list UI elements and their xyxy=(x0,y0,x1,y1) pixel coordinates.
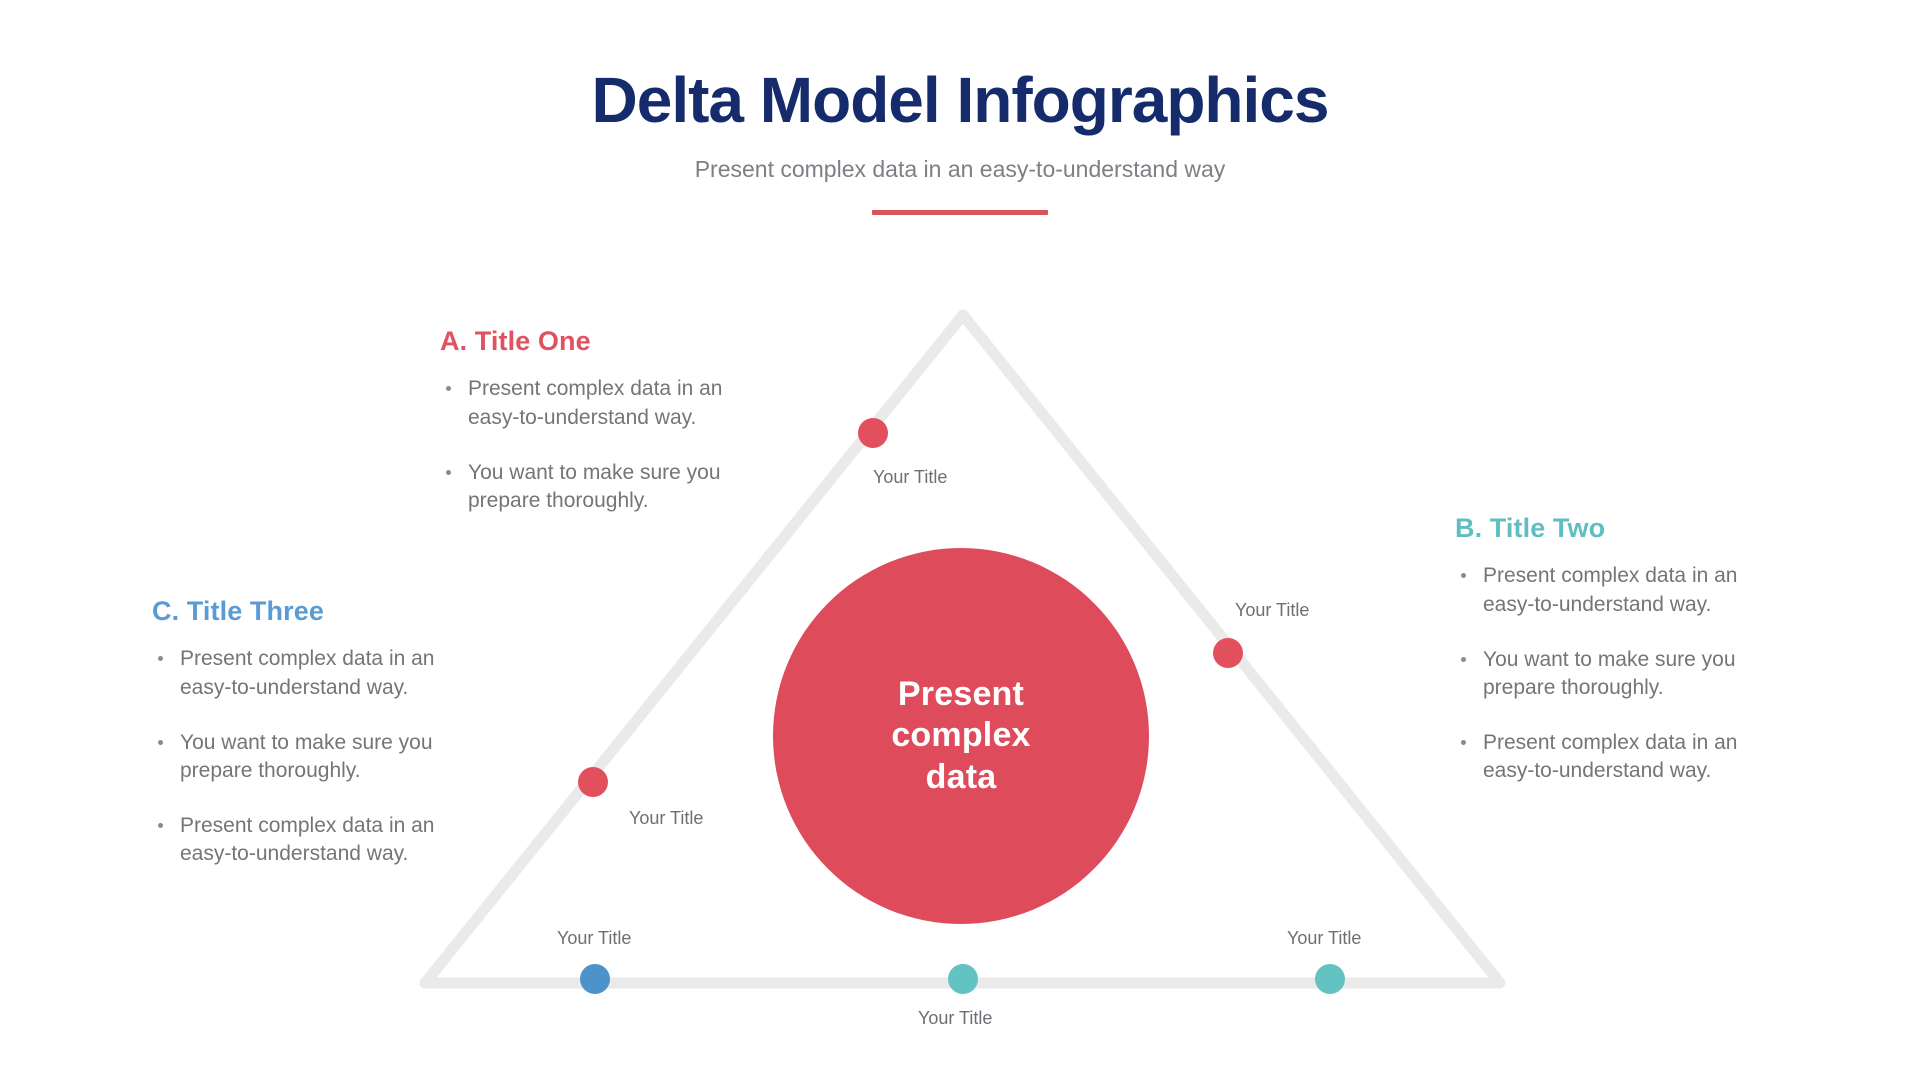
center-circle-label: Present complex data xyxy=(861,674,1061,798)
section-b-bullet-3: Present complex data in an easy-to-under… xyxy=(1455,729,1775,785)
node-dot-top-left-edge[interactable] xyxy=(858,418,888,448)
center-circle[interactable]: Present complex data xyxy=(773,548,1149,924)
bullet-text: You want to make sure you prepare thorou… xyxy=(468,461,721,512)
bullet-text: You want to make sure you prepare thorou… xyxy=(180,731,433,782)
bullet-dot-icon xyxy=(158,823,163,828)
node-dot-bottom-left[interactable] xyxy=(580,964,610,994)
section-a: A. Title One Present complex data in an … xyxy=(440,325,760,515)
bullet-text: You want to make sure you prepare thorou… xyxy=(1483,648,1736,699)
node-label-bottom-center: Your Title xyxy=(918,1008,992,1030)
bullet-dot-icon xyxy=(1461,573,1466,578)
section-c: C. Title Three Present complex data in a… xyxy=(152,595,472,868)
page-title: Delta Model Infographics xyxy=(0,68,1920,132)
node-label-bottom-left: Your Title xyxy=(557,928,631,950)
section-a-bullet-2: You want to make sure you prepare thorou… xyxy=(440,459,760,515)
node-label-top-left-edge: Your Title xyxy=(873,467,947,489)
node-dot-left-edge[interactable] xyxy=(578,767,608,797)
node-label-right-edge: Your Title xyxy=(1235,600,1309,622)
section-b-heading: B. Title Two xyxy=(1455,512,1775,544)
section-b-bullet-1: Present complex data in an easy-to-under… xyxy=(1455,562,1775,618)
section-c-heading: C. Title Three xyxy=(152,595,472,627)
section-c-bullet-1: Present complex data in an easy-to-under… xyxy=(152,645,472,701)
node-label-bottom-right: Your Title xyxy=(1287,928,1361,950)
bullet-dot-icon xyxy=(1461,657,1466,662)
section-a-bullets: Present complex data in an easy-to-under… xyxy=(440,375,760,515)
slide-canvas: Delta Model Infographics Present complex… xyxy=(0,0,1920,1080)
bullet-text: Present complex data in an easy-to-under… xyxy=(180,647,434,698)
bullet-dot-icon xyxy=(158,656,163,661)
bullet-text: Present complex data in an easy-to-under… xyxy=(1483,564,1737,615)
section-c-bullets: Present complex data in an easy-to-under… xyxy=(152,645,472,868)
section-a-heading: A. Title One xyxy=(440,325,760,357)
section-c-bullet-2: You want to make sure you prepare thorou… xyxy=(152,729,472,785)
section-b-bullets: Present complex data in an easy-to-under… xyxy=(1455,562,1775,785)
header: Delta Model Infographics Present complex… xyxy=(0,68,1920,215)
section-b-bullet-2: You want to make sure you prepare thorou… xyxy=(1455,646,1775,702)
bullet-text: Present complex data in an easy-to-under… xyxy=(180,814,434,865)
node-dot-right-edge[interactable] xyxy=(1213,638,1243,668)
section-c-bullet-3: Present complex data in an easy-to-under… xyxy=(152,812,472,868)
bullet-dot-icon xyxy=(1461,740,1466,745)
bullet-dot-icon xyxy=(446,470,451,475)
bullet-text: Present complex data in an easy-to-under… xyxy=(468,377,722,428)
node-dot-bottom-center[interactable] xyxy=(948,964,978,994)
title-divider xyxy=(872,210,1048,215)
section-a-bullet-1: Present complex data in an easy-to-under… xyxy=(440,375,760,431)
bullet-dot-icon xyxy=(446,386,451,391)
page-subtitle: Present complex data in an easy-to-under… xyxy=(0,156,1920,184)
section-b: B. Title Two Present complex data in an … xyxy=(1455,512,1775,785)
bullet-text: Present complex data in an easy-to-under… xyxy=(1483,731,1737,782)
node-label-left-edge: Your Title xyxy=(629,808,703,830)
bullet-dot-icon xyxy=(158,740,163,745)
node-dot-bottom-right[interactable] xyxy=(1315,964,1345,994)
